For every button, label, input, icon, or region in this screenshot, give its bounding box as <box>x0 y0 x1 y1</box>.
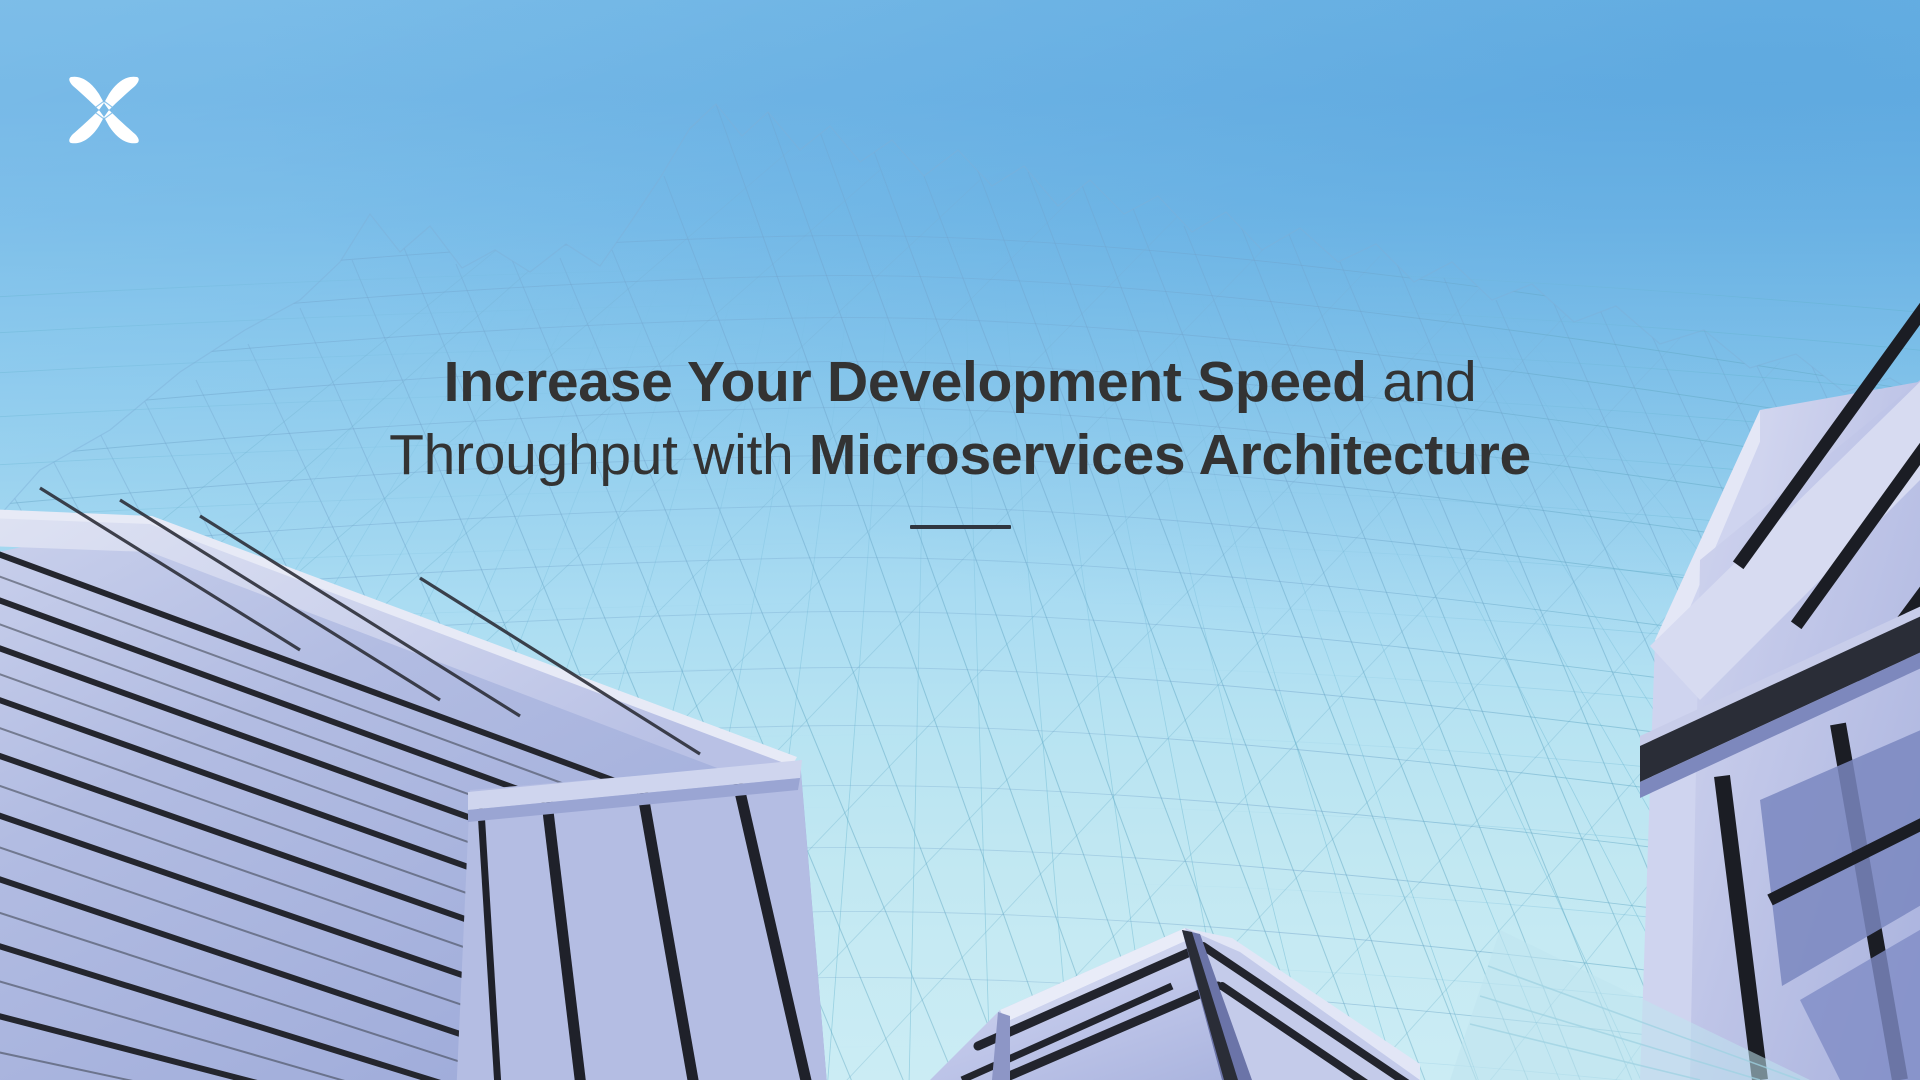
hero-banner: Increase Your Development Speed and Thro… <box>0 0 1920 1080</box>
building-left <box>0 488 830 1080</box>
headline-line-2-light: Throughput with <box>389 423 809 487</box>
page-title: Increase Your Development Speed and Thro… <box>120 346 1800 492</box>
buildings-layer <box>0 0 1920 1080</box>
title-divider <box>910 525 1011 529</box>
headline-line-2: Throughput with Microservices Architectu… <box>120 419 1800 492</box>
headline-line-1-light: and <box>1367 350 1477 414</box>
headline-line-2-bold: Microservices Architecture <box>809 423 1531 487</box>
hero-copy: Increase Your Development Speed and Thro… <box>0 346 1920 529</box>
brand-logo[interactable] <box>68 72 140 148</box>
x-logo-icon <box>68 72 140 148</box>
headline-line-1-bold: Increase Your Development Speed <box>444 350 1367 414</box>
headline-line-1: Increase Your Development Speed and <box>120 346 1800 419</box>
building-bottom-center <box>930 928 1420 1080</box>
